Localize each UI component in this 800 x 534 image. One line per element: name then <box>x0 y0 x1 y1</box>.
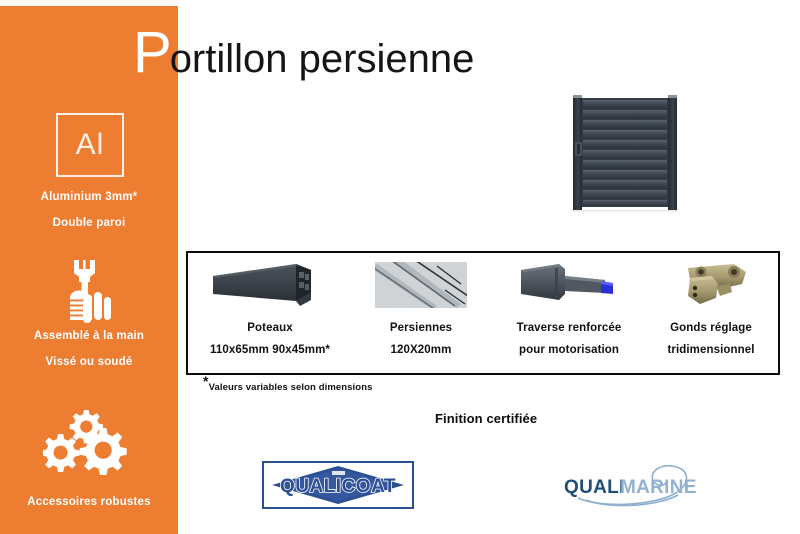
sidebar-feature-assembly-line2: Vissé ou soudé <box>0 354 178 372</box>
component-traverse-sub: pour motorisation <box>519 342 619 359</box>
footnote: *Valeurs variables selon dimensions <box>203 381 372 393</box>
component-gonds-sub: tridimensionnel <box>667 342 754 359</box>
post-profile-photo <box>210 259 330 311</box>
qualimarine-logo-text-light: MARINE <box>708 462 709 463</box>
page-title-capital: P <box>133 24 172 82</box>
component-persiennes: Persiennes 120X20mm <box>348 253 494 373</box>
svg-text:MARINE: MARINE <box>620 477 697 498</box>
sidebar-feature-assembly: Assemblé à la main Vissé ou soudé <box>0 328 178 372</box>
component-poteaux-sub: 110x65mm 90x45mm* <box>210 342 330 359</box>
component-traverse-title: Traverse renforcée <box>517 320 622 337</box>
louvered-gate-svg <box>567 86 687 217</box>
component-poteaux: Poteaux 110x65mm 90x45mm* <box>194 253 346 373</box>
gears-icon-svg <box>43 408 135 476</box>
qualimarine-logo-text-bold: QUALI <box>708 462 709 463</box>
svg-text:QUALI: QUALI <box>564 477 625 498</box>
svg-text:QUALICOAT: QUALICOAT <box>280 476 396 497</box>
sidebar-feature-aluminium-line2: Double paroi <box>0 215 178 233</box>
reinforced-crossbar-svg <box>513 260 625 310</box>
component-persiennes-sub: 120X20mm <box>391 342 452 359</box>
aluminium-square-icon: Al <box>56 113 124 177</box>
gears-icon <box>0 408 178 476</box>
adjustable-hinge-svg <box>668 262 754 308</box>
sidebar-feature-assembly-line1: Assemblé à la main <box>0 328 178 346</box>
hand-wrench-icon-svg <box>52 256 126 328</box>
sidebar-feature-accessories-line1: Accessoires robustes <box>0 494 178 512</box>
reinforced-crossbar-photo <box>513 259 625 311</box>
adjustable-hinge-photo <box>668 259 754 311</box>
sidebar-feature-aluminium: Aluminium 3mm* Double paroi <box>0 189 178 233</box>
qualicoat-logo: QUALICOAT QUALICOAT <box>262 461 414 509</box>
louvre-blades-photo <box>375 259 467 311</box>
qualimarine-logo-svg: QUALI MARINE <box>556 462 708 508</box>
component-gonds: Gonds réglage tridimensionnel <box>644 253 778 373</box>
sidebar-feature-accessories: Accessoires robustes <box>0 494 178 512</box>
aluminium-symbol-label: Al <box>58 115 122 175</box>
qualicoat-logo-text: QUALICOAT <box>412 463 413 464</box>
components-panel: Poteaux 110x65mm 90x45mm* <box>186 251 780 375</box>
qualimarine-logo: QUALI MARINE QUALI MARINE <box>556 462 708 508</box>
component-poteaux-title: Poteaux <box>247 320 292 337</box>
post-profile-svg <box>210 260 330 310</box>
hand-wrench-icon <box>0 256 178 328</box>
component-persiennes-title: Persiennes <box>390 320 452 337</box>
qualicoat-logo-svg: QUALICOAT <box>264 463 412 507</box>
louvered-gate-photo <box>567 86 687 217</box>
sidebar-feature-aluminium-line1: Aluminium 3mm* <box>0 189 178 207</box>
sidebar-top-strip <box>0 0 178 6</box>
page-title: P ortillon persienne <box>133 24 474 84</box>
louvre-blades-svg <box>375 262 467 308</box>
component-gonds-title: Gonds réglage <box>670 320 752 337</box>
finition-certifiee-label: Finition certifiée <box>435 411 537 426</box>
footnote-text: Valeurs variables selon dimensions <box>209 382 373 393</box>
page-title-rest: ortillon persienne <box>170 39 475 79</box>
slide-canvas: Al Aluminium 3mm* Double paroi Assemblé … <box>0 0 800 534</box>
component-traverse: Traverse renforcée pour motorisation <box>494 253 644 373</box>
